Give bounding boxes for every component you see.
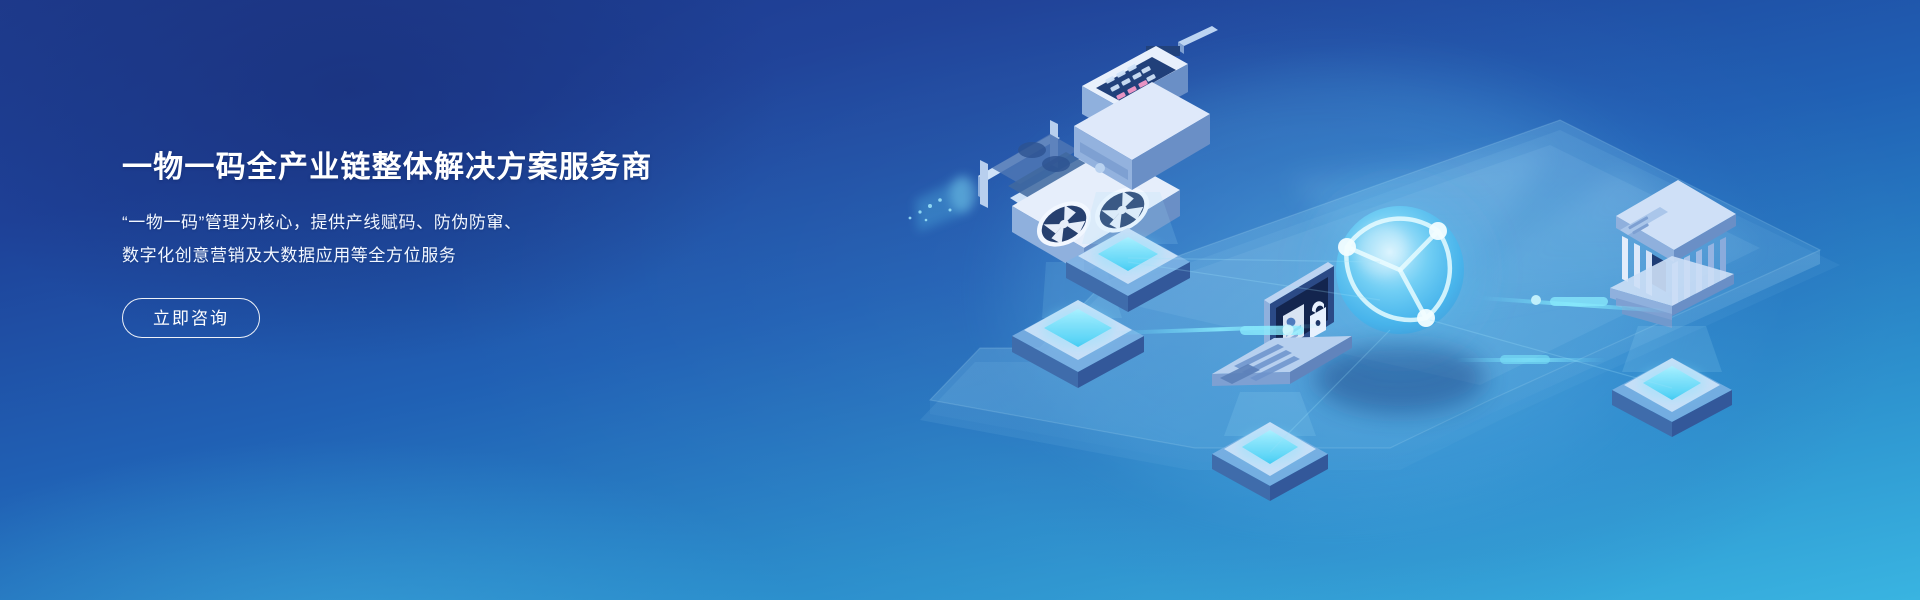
banner-stage: 一物一码全产业链整体解决方案服务商 “一物一码”管理为核心，提供产线赋码、防伪防… [0,0,1920,600]
subtitle-line-2: 数字化创意营销及大数据应用等全方位服务 [122,239,762,272]
banner-copy: 一物一码全产业链整体解决方案服务商 “一物一码”管理为核心，提供产线赋码、防伪防… [122,130,762,338]
spray-glow [915,176,976,232]
hero-illustration [860,0,1920,600]
subtitle-line-1: “一物一码”管理为核心，提供产线赋码、防伪防窜、 [122,206,762,239]
page-title: 一物一码全产业链整体解决方案服务商 [122,150,762,186]
consult-now-button[interactable]: 立即咨询 [122,298,260,338]
banner-subtitle: “一物一码”管理为核心，提供产线赋码、防伪防窜、 数字化创意营销及大数据应用等全… [122,206,762,272]
sphere-specular [1356,224,1408,276]
